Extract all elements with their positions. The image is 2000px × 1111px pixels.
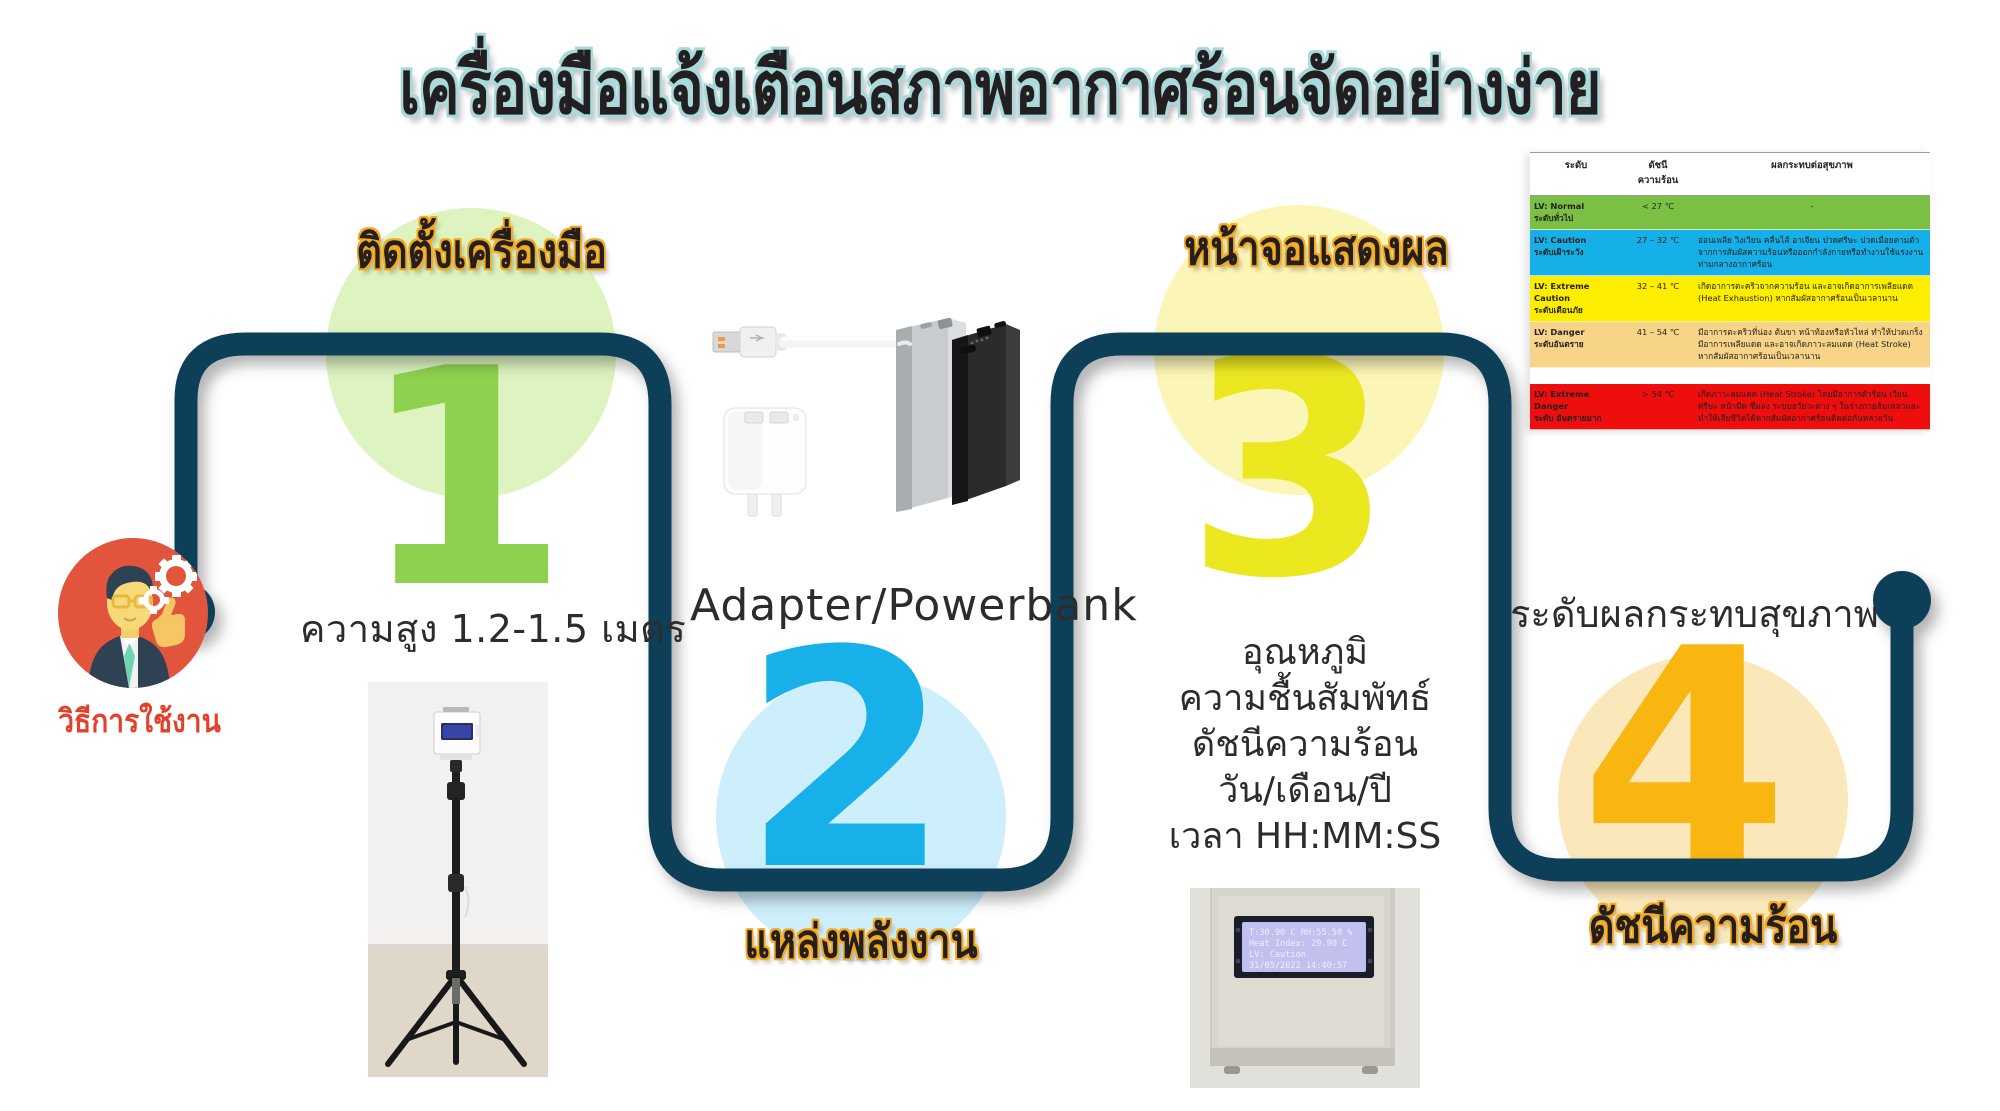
heat-index-level-table: ระดับ ดัชนี ความร้อน ผลกระทบต่อสุขภาพ LV… xyxy=(1530,152,1930,430)
table-row: LV: Extreme Caution ระดับเตือนภัย 32 – 4… xyxy=(1530,276,1930,322)
cell-level-th: ระดับ อันตรายมาก xyxy=(1534,413,1602,423)
readout-line-heat-index: ดัชนีความร้อน xyxy=(1155,722,1455,768)
device-box-illustration: T:30.90 C RH:55.50 % Heat Index: 29.90 C… xyxy=(1190,888,1420,1088)
step-4-caption: ระดับผลกระทบสุขภาพ xyxy=(1510,583,1879,644)
lcd-line-1: T:30.90 C RH:55.50 % xyxy=(1249,928,1353,938)
table-row: LV: Caution ระดับเฝ้าระวัง 27 – 32 ℃ อ่อ… xyxy=(1530,230,1930,276)
cell-index: 27 – 32 ℃ xyxy=(1622,230,1694,276)
infographic-canvas: เครื่องมือแจ้งเตือนสภาพอากาศร้อนจัดอย่าง… xyxy=(0,0,2000,1111)
cell-level-th: ระดับเตือนภัย xyxy=(1534,305,1583,315)
table-row: LV: Extreme Danger ระดับ อันตรายมาก > 54… xyxy=(1530,384,1930,430)
cell-level-en: LV: Danger xyxy=(1534,327,1584,337)
howto-label: วิธีการใช้งาน xyxy=(58,696,208,747)
cell-effect: มีอาการตะคริวที่น่อง ต้นขา หน้าท้องหรือห… xyxy=(1694,322,1930,368)
step-4-number: 4 xyxy=(1580,610,1789,910)
heat-table: ระดับ ดัชนี ความร้อน ผลกระทบต่อสุขภาพ LV… xyxy=(1530,152,1930,430)
cell-index: < 27 ℃ xyxy=(1622,196,1694,230)
lcd-line-4: 31/05/2022 14:40:57 xyxy=(1249,961,1347,971)
wall-adapter-icon xyxy=(724,408,806,516)
readout-line-time: เวลา HH:MM:SS xyxy=(1155,814,1455,860)
cell-level-en: LV: Extreme Caution xyxy=(1534,281,1589,303)
cell-effect: เกิดภาวะลมแดด (Heat Stroke) โดยมีอาการตั… xyxy=(1694,384,1930,430)
cell-level-th: ระดับอันตราย xyxy=(1534,339,1584,349)
lcd-line-2: Heat Index: 29.90 C xyxy=(1249,939,1347,949)
step-1-caption: ความสูง 1.2-1.5 เมตร xyxy=(300,598,686,659)
user-gears-icon xyxy=(58,538,208,688)
readout-line-temperature: อุณหภูมิ xyxy=(1155,630,1455,676)
table-spacer-row xyxy=(1530,368,1930,384)
powerbank-black-icon xyxy=(952,321,1020,505)
user-gears-svg xyxy=(58,538,208,688)
readout-line-humidity: ความชื้นสัมพัทธ์ xyxy=(1155,676,1455,722)
step-1-label: ติดตั้งเครื่องมือ xyxy=(356,215,605,288)
cell-level: LV: Caution ระดับเฝ้าระวัง xyxy=(1530,230,1622,276)
howto-badge: วิธีการใช้งาน xyxy=(48,538,218,747)
th-heat-index-line1: ดัชนี xyxy=(1648,160,1667,171)
cell-level-th: ระดับทั่วไป xyxy=(1534,213,1573,223)
usb-cable-adapter-powerbank-image xyxy=(680,290,1100,540)
step-2-number: 2 xyxy=(742,612,951,912)
cell-level-th: ระดับเฝ้าระวัง xyxy=(1534,247,1584,257)
cell-effect: อ่อนเพลีย วิงเวียน คลื่นไส้ อาเจียน ปวดศ… xyxy=(1694,230,1930,276)
th-heat-index: ดัชนี ความร้อน xyxy=(1622,153,1694,196)
readout-line-date: วัน/เดือน/ปี xyxy=(1155,768,1455,814)
cell-level: LV: Extreme Danger ระดับ อันตรายมาก xyxy=(1530,384,1622,430)
cell-level: LV: Extreme Caution ระดับเตือนภัย xyxy=(1530,276,1622,322)
cell-index: 32 – 41 ℃ xyxy=(1622,276,1694,322)
cell-level-en: LV: Normal xyxy=(1534,201,1584,211)
tripod-illustration xyxy=(368,682,548,1077)
power-accessories-illustration xyxy=(680,290,1100,540)
cell-index: 41 – 54 ℃ xyxy=(1622,322,1694,368)
step-3-label: หน้าจอแสดงผล xyxy=(1184,212,1433,285)
step-3-readout-list: อุณหภูมิ ความชื้นสัมพัทธ์ ดัชนีความร้อน … xyxy=(1155,630,1455,860)
step-1-number: 1 xyxy=(360,330,569,630)
table-row: LV: Danger ระดับอันตราย 41 – 54 ℃ มีอากา… xyxy=(1530,322,1930,368)
cell-level-en: LV: Caution xyxy=(1534,235,1586,245)
cell-index: > 54 ℃ xyxy=(1622,384,1694,430)
cell-level: LV: Danger ระดับอันตราย xyxy=(1530,322,1622,368)
step-2-label: แหล่งพลังงาน xyxy=(736,905,985,978)
cell-level-en: LV: Extreme Danger xyxy=(1534,389,1589,411)
lcd-line-3: LV: Caution xyxy=(1249,950,1306,960)
device-lcd-display-photo: T:30.90 C RH:55.50 % Heat Index: 29.90 C… xyxy=(1190,888,1420,1088)
cell-level: LV: Normal ระดับทั่วไป xyxy=(1530,196,1622,230)
th-health-effect: ผลกระทบต่อสุขภาพ xyxy=(1694,153,1930,196)
table-header-row: ระดับ ดัชนี ความร้อน ผลกระทบต่อสุขภาพ xyxy=(1530,153,1930,196)
th-heat-index-line2: ความร้อน xyxy=(1638,175,1679,186)
page-title: เครื่องมือแจ้งเตือนสภาพอากาศร้อนจัดอย่าง… xyxy=(180,28,1820,146)
step-3-number: 3 xyxy=(1185,320,1394,620)
step-2-caption: Adapter/Powerbank xyxy=(690,580,1138,631)
step-4-label: ดัชนีความร้อน xyxy=(1588,890,1837,963)
table-row: LV: Normal ระดับทั่วไป < 27 ℃ - xyxy=(1530,196,1930,230)
usb-cable-icon xyxy=(713,327,896,357)
cell-effect: - xyxy=(1694,196,1930,230)
th-level: ระดับ xyxy=(1530,153,1622,196)
cell-effect: เกิดอาการตะคริวจากความร้อน และอาจเกิดอาก… xyxy=(1694,276,1930,322)
tripod-with-device-photo xyxy=(368,682,548,1077)
